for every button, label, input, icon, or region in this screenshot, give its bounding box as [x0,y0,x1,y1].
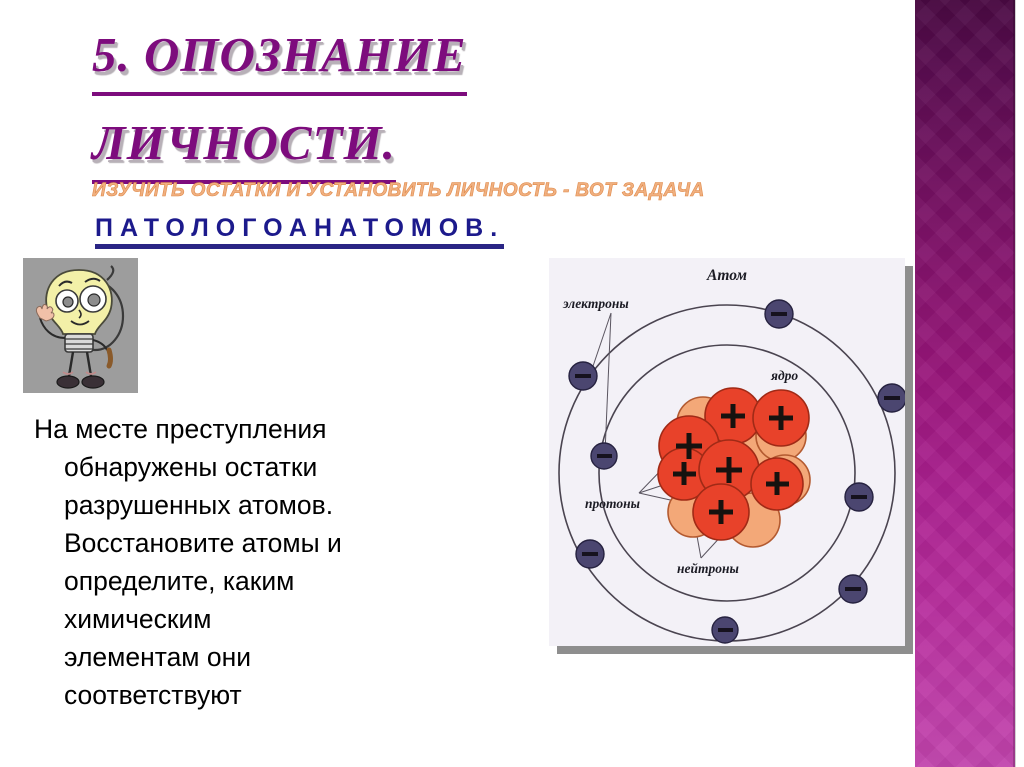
body-line-8: соответствуют [28,676,418,714]
electron [878,384,905,412]
body-paragraph: На месте преступления обнаружены остатки… [28,410,418,714]
electron [576,540,604,568]
electron [712,617,738,643]
subtitle-orange: ИЗУЧИТЬ ОСТАТКИ И УСТАНОВИТЬ ЛИЧНОСТЬ - … [92,180,705,202]
title-line-2: ЛИЧНОСТИ. [92,108,396,184]
body-line-3: разрушенных атомов. [28,486,418,524]
label-neutrons: нейтроны [677,561,739,576]
right-decorative-band [915,0,1015,767]
body-line-7: элементам они [28,638,418,676]
atom-figure-title: Атом [706,267,747,284]
body-line-2: обнаружены остатки [28,448,418,486]
lightbulb-detective-icon [23,258,138,393]
atom-diagram-svg: Атом электроны ядро протоны нейтроны [549,258,905,646]
body-line-1: На месте преступления [28,410,418,448]
label-electrons: электроны [562,296,629,311]
title-line-1: 5. ОПОЗНАНИЕ [92,20,467,96]
electron [765,300,793,328]
electron [845,483,873,511]
electron [569,362,597,390]
subtitle-blue: ПАТОЛОГОАНАТОМОВ. [95,214,504,249]
label-protons: протоны [585,496,640,511]
atom-diagram-image: Атом электроны ядро протоны нейтроны [549,258,905,646]
body-line-6: химическим [28,600,418,638]
label-nucleus: ядро [770,368,798,383]
electron [591,443,617,469]
body-line-5: определите, каким [28,562,418,600]
electron [839,575,867,603]
page-title: 5. ОПОЗНАНИЕ ЛИЧНОСТИ. [92,20,712,184]
body-line-4: Восстановите атомы и [28,524,418,562]
band-texture-overlay [915,0,1015,767]
lightbulb-detective-image [23,258,138,393]
band-edge-line [1013,0,1016,767]
